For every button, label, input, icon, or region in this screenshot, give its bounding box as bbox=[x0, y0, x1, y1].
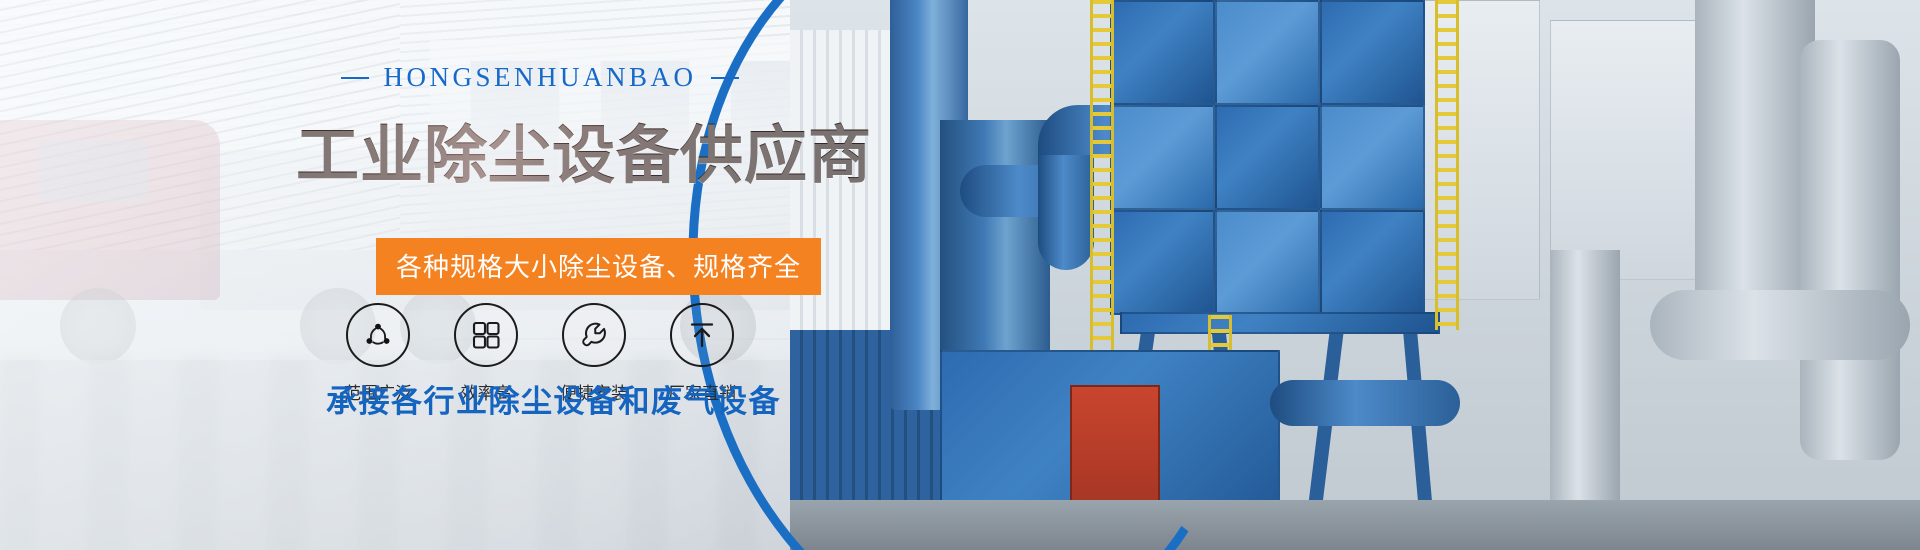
brand-name: HONGSENHUANBAO bbox=[383, 62, 696, 93]
brand-line: HONGSENHUANBAO bbox=[330, 62, 750, 93]
steel-hopper bbox=[1695, 0, 1815, 330]
steel-pipe-horizontal bbox=[1650, 290, 1910, 360]
outlet-pipe bbox=[1270, 380, 1460, 426]
steel-duct bbox=[1800, 40, 1900, 460]
tagline: 承接各行业除尘设备和废气设备 bbox=[326, 376, 781, 421]
promo-banner: HONGSENHUANBAO 工业除尘设备供应商 各种规格大小除尘设备、规格齐全 bbox=[0, 0, 1920, 550]
arrow-up-bar-icon bbox=[670, 303, 734, 367]
brand-dash-right bbox=[711, 77, 739, 79]
plant-building bbox=[1550, 20, 1700, 280]
headline: 工业除尘设备供应商 bbox=[296, 105, 872, 196]
subtitle-bar: 各种规格大小除尘设备、规格齐全 bbox=[376, 238, 821, 295]
baghouse-module bbox=[1320, 0, 1425, 105]
baghouse-module bbox=[1320, 105, 1425, 210]
baghouse-module bbox=[1215, 0, 1320, 105]
grid-four-squares-icon bbox=[454, 303, 518, 367]
brand-dash-left bbox=[341, 77, 369, 79]
share-network-icon bbox=[346, 303, 410, 367]
access-ladder bbox=[1435, 0, 1459, 330]
baghouse-module bbox=[1320, 210, 1425, 315]
wrench-icon bbox=[562, 303, 626, 367]
subtitle-text: 各种规格大小除尘设备、规格齐全 bbox=[396, 253, 801, 283]
banner-content: HONGSENHUANBAO 工业除尘设备供应商 各种规格大小除尘设备、规格齐全 bbox=[0, 0, 850, 550]
